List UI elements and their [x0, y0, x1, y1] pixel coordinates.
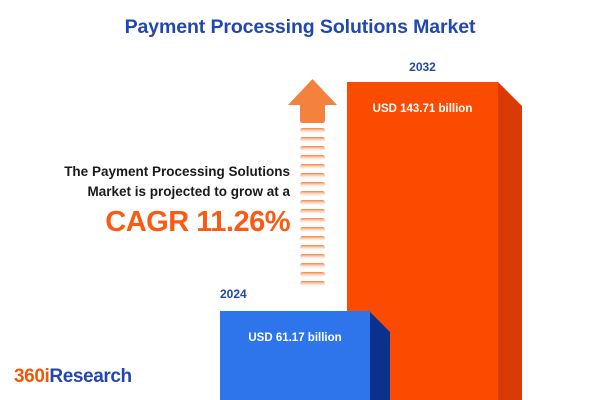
cagr-callout: The Payment Processing Solutions Market …	[8, 162, 290, 239]
bar-2024-side-face	[369, 311, 390, 400]
brand-logo: 360iResearch	[14, 366, 132, 388]
bar-2024-front-face	[220, 311, 370, 400]
bar-2032-value: USD 143.71 billion	[347, 103, 498, 115]
cagr-description: The Payment Processing Solutions Market …	[8, 162, 290, 201]
bar-2024: USD 61.17 billion	[220, 311, 390, 400]
infographic-canvas: Payment Processing Solutions Market The …	[0, 0, 600, 400]
bar-2024-value: USD 61.17 billion	[220, 332, 370, 344]
logo-text-research: Research	[49, 366, 131, 387]
bar-label-2032: 2032	[347, 60, 498, 74]
cagr-value: CAGR 11.26%	[8, 207, 290, 239]
up-arrow-icon	[287, 78, 338, 293]
bar-2032-side-face	[498, 82, 522, 400]
page-title: Payment Processing Solutions Market	[0, 16, 600, 39]
logo-text-360: 360	[14, 366, 45, 387]
bar-label-2024: 2024	[220, 287, 300, 301]
